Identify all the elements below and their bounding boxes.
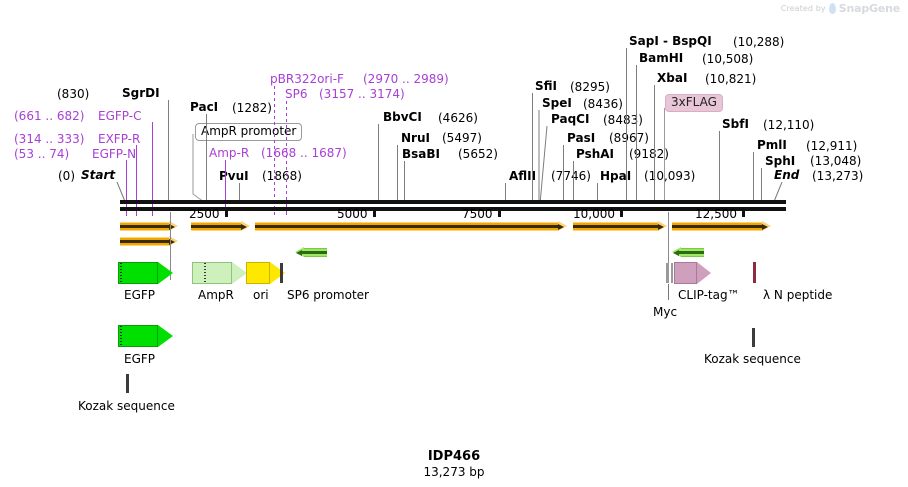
leader-pasi xyxy=(563,145,564,203)
feature-label-ampr: AmpR xyxy=(198,288,234,302)
label-exfpr: EXFP-R xyxy=(98,133,140,146)
label-xbai: XbaI xyxy=(657,72,687,85)
orf-arrow-3 xyxy=(191,222,250,231)
label-egfpn: EGFP-N xyxy=(92,148,136,161)
feature-myc-secondary xyxy=(671,263,673,283)
label-sgrdi: SgrDI xyxy=(122,87,160,100)
orf-reverse-arrow-2 xyxy=(672,248,704,257)
feature-lambda-n-peptide[interactable] xyxy=(753,262,756,283)
label-sphi: SphI xyxy=(765,155,795,168)
label-bamhi: BamHI xyxy=(639,52,683,65)
label-pshai-position: (9182) xyxy=(629,148,669,161)
feature-sp6-promoter[interactable] xyxy=(280,263,283,283)
label-3xflag: 3xFLAG xyxy=(665,94,723,112)
label-pmli-position: (12,911) xyxy=(806,140,857,153)
label-sfii-position: (8295) xyxy=(570,81,610,94)
label-nrui: NruI xyxy=(401,132,430,145)
backbone-strand-top xyxy=(120,200,786,204)
leader-xbai xyxy=(654,85,655,203)
label-end: End xyxy=(774,169,799,182)
feature-myc[interactable] xyxy=(666,263,669,283)
label-sapi-bspqi: SapI - BspQI xyxy=(629,35,712,48)
label-bbvci-position: (4626) xyxy=(438,112,478,125)
ruler-label-10000: 10,000 xyxy=(573,207,615,221)
feature-label-myc: Myc xyxy=(653,305,677,319)
label-egfpn-position: (53 .. 74) xyxy=(14,148,69,161)
leader-pmli xyxy=(753,152,754,203)
leader-bbvci xyxy=(378,124,379,203)
ruler-tick-2500 xyxy=(225,208,228,217)
label-sphi-position: (13,048) xyxy=(810,155,861,168)
label-exfpr-position: (314 .. 333) xyxy=(14,133,84,146)
ruler-tick-10000 xyxy=(620,208,623,217)
feature-kozak-sequence-1[interactable] xyxy=(126,374,129,393)
ruler-tick-7500 xyxy=(498,208,501,217)
leader-sfii xyxy=(532,93,533,203)
feature-label-kozak-sequence-2: Kozak sequence xyxy=(704,352,801,366)
leader-sgrdi xyxy=(168,100,169,203)
label-start-position: (0) xyxy=(58,170,75,183)
ruler-label-12500: 12,500 xyxy=(695,207,737,221)
feature-label-kozak-sequence-1: Kozak sequence xyxy=(78,399,175,413)
feature-ampr[interactable] xyxy=(192,262,247,284)
label-sbfi: SbfI xyxy=(722,118,749,131)
label-start: Start xyxy=(81,169,115,182)
label-sgrdi-position: (830) xyxy=(57,88,89,101)
label-spei-position: (8436) xyxy=(583,98,623,111)
label-egfpc: EGFP-C xyxy=(98,110,141,123)
label-pasi-position: (8967) xyxy=(609,132,649,145)
feature-egfp-2[interactable] xyxy=(118,325,173,347)
label-pshai: PshAI xyxy=(576,148,614,161)
feature-label-egfp-2: EGFP xyxy=(124,352,155,366)
orf-arrow-5 xyxy=(573,222,667,231)
ruler-tick-5000 xyxy=(373,208,376,217)
leader-pshai xyxy=(573,161,574,203)
snapgene-map-canvas: Created by SnapGene (830) SgrDI (661 .. … xyxy=(0,0,908,487)
label-paci: PacI xyxy=(190,101,218,114)
leader-nrui xyxy=(397,145,398,203)
label-sp6-primer: SP6 xyxy=(285,88,308,101)
ruler-tick-12500 xyxy=(742,208,745,217)
label-bamhi-position: (10,508) xyxy=(702,53,753,66)
ruler-label-5000: 5000 xyxy=(337,207,368,221)
label-pbr322orif-position: (2970 .. 2989) xyxy=(363,73,449,86)
leader-sapi-bspqi xyxy=(626,48,627,203)
feature-clip-tag[interactable] xyxy=(674,262,712,284)
plasmid-length: 13,273 bp xyxy=(0,465,908,479)
feature-label-egfp: EGFP xyxy=(124,288,155,302)
label-bbvci: BbvCI xyxy=(383,111,422,124)
feature-label-clip-tag: CLIP-tag™ xyxy=(678,288,740,302)
leader-3xflag xyxy=(664,108,665,203)
label-pvui-position: (1868) xyxy=(262,170,302,183)
leader-sp6-primer xyxy=(286,101,287,212)
leader-ampr-promoter xyxy=(190,134,210,204)
label-sbfi-position: (12,110) xyxy=(763,119,814,132)
label-sapi-bspqi-position: (10,288) xyxy=(733,36,784,49)
label-end-position: (13,273) xyxy=(812,170,863,183)
label-sp6-primer-position: (3157 .. 3174) xyxy=(319,88,405,101)
label-ampr-primer: Amp-R xyxy=(209,147,249,160)
leader-sbfi xyxy=(719,131,720,203)
label-pbr322orif: pBR322ori-F xyxy=(270,73,344,86)
orf-arrow-4 xyxy=(255,222,567,231)
backbone-strand-bottom xyxy=(120,207,786,211)
label-pmli: PmlI xyxy=(757,139,787,152)
label-bsabi: BsaBI xyxy=(402,148,440,161)
label-paqci: PaqCI xyxy=(551,113,589,126)
leader-sphi xyxy=(761,168,762,203)
label-nrui-position: (5497) xyxy=(442,132,482,145)
leader-myc xyxy=(668,284,669,300)
orf-reverse-arrow-1 xyxy=(295,248,327,257)
label-pvui: PvuI xyxy=(219,170,249,183)
leader-bamhi xyxy=(636,65,637,203)
snapgene-logo-icon xyxy=(829,3,836,14)
leader-egfpc xyxy=(152,122,153,212)
label-hpai-position: (10,093) xyxy=(644,170,695,183)
watermark-brand: SnapGene xyxy=(839,2,900,15)
label-sfii: SfiI xyxy=(535,80,557,93)
ruler-label-2500: 2500 xyxy=(189,207,220,221)
feature-label-lambda-n-peptide: λ N peptide xyxy=(763,288,832,302)
label-pasi: PasI xyxy=(567,132,595,145)
watermark-prefix: Created by xyxy=(781,4,826,13)
leader-paqci xyxy=(538,126,558,204)
feature-kozak-sequence-2[interactable] xyxy=(752,328,755,347)
feature-label-sp6-promoter: SP6 promoter xyxy=(287,288,369,302)
plasmid-name: IDP466 xyxy=(0,449,908,464)
leader-bsabi xyxy=(404,161,405,203)
feature-egfp[interactable] xyxy=(118,262,173,284)
label-paci-position: (1282) xyxy=(232,102,272,115)
label-egfpc-position: (661 .. 682) xyxy=(14,110,84,123)
snapgene-watermark: Created by SnapGene xyxy=(781,2,900,15)
orf-arrow-6 xyxy=(672,222,771,231)
feature-label-ori: ori xyxy=(253,288,269,302)
label-spei: SpeI xyxy=(542,97,572,110)
label-bsabi-position: (5652) xyxy=(458,148,498,161)
leader-pbr322orif xyxy=(274,86,275,212)
ruler-label-7500: 7500 xyxy=(462,207,493,221)
label-xbai-position: (10,821) xyxy=(705,73,756,86)
